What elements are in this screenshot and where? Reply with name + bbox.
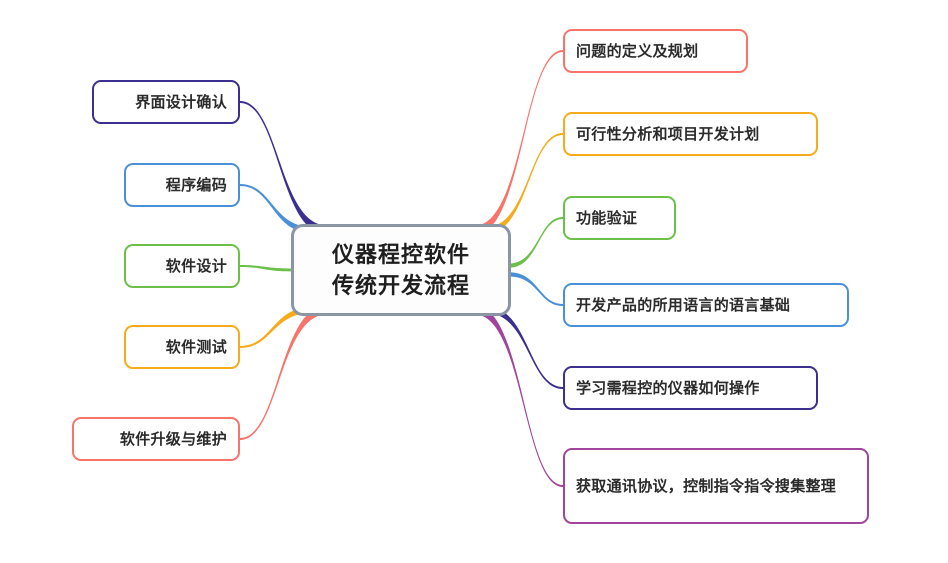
branch-node-right-2[interactable]: 可行性分析和项目开发计划 — [563, 112, 818, 156]
branch-node-left-4[interactable]: 软件测试 — [124, 325, 240, 369]
mind-map-canvas: 仪器程控软件 传统开发流程 界面设计确认 程序编码 软件设计 软件测试 软件升级… — [0, 0, 948, 563]
branch-node-left-1[interactable]: 界面设计确认 — [92, 80, 240, 124]
branch-label: 界面设计确认 — [135, 92, 227, 113]
branch-node-right-5[interactable]: 学习需程控的仪器如何操作 — [563, 366, 818, 410]
central-topic-line-2: 传统开发流程 — [332, 270, 470, 301]
branch-label: 程序编码 — [166, 175, 227, 196]
branch-label: 功能验证 — [576, 208, 637, 229]
branch-label: 学习需程控的仪器如何操作 — [576, 378, 760, 399]
branch-label: 软件测试 — [166, 337, 227, 358]
branch-node-right-6[interactable]: 获取通讯协议，控制指令指令搜集整理 — [563, 448, 869, 524]
branch-node-right-3[interactable]: 功能验证 — [563, 196, 676, 240]
branch-label: 获取通讯协议，控制指令指令搜集整理 — [576, 476, 836, 497]
branch-node-left-2[interactable]: 程序编码 — [124, 163, 240, 207]
branch-node-right-1[interactable]: 问题的定义及规划 — [563, 29, 748, 73]
branch-node-left-5[interactable]: 软件升级与维护 — [72, 417, 240, 461]
branch-label: 可行性分析和项目开发计划 — [576, 124, 760, 145]
branch-node-left-3[interactable]: 软件设计 — [124, 244, 240, 288]
central-topic-node[interactable]: 仪器程控软件 传统开发流程 — [291, 224, 511, 316]
branch-node-right-4[interactable]: 开发产品的所用语言的语言基础 — [563, 283, 849, 327]
branch-label: 软件设计 — [166, 256, 227, 277]
branch-label: 软件升级与维护 — [120, 429, 227, 450]
central-topic-line-1: 仪器程控软件 — [332, 239, 470, 270]
branch-label: 开发产品的所用语言的语言基础 — [576, 295, 790, 316]
branch-label: 问题的定义及规划 — [576, 41, 698, 62]
